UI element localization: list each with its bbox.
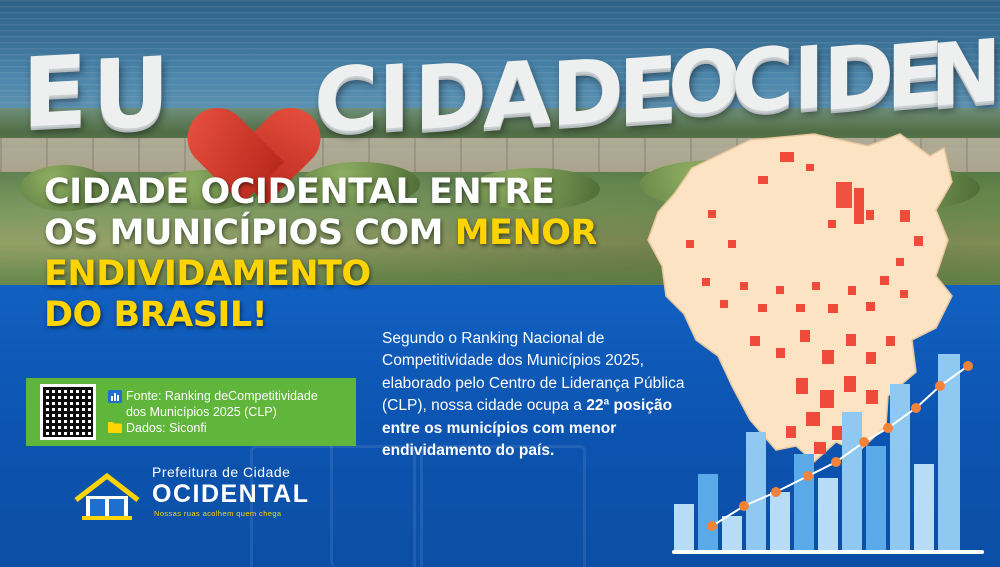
chart-trend-line [672,330,984,562]
monument-letter: I [378,53,411,143]
logo-line-1: Prefeitura de Cidade [152,464,290,480]
description-paragraph: Segundo o Ranking Nacional de Competitiv… [382,328,712,463]
bar-chart-icon [108,390,122,403]
monument-letter: C [314,54,379,147]
bar-chart [672,330,984,562]
chart-axis [672,550,984,554]
heart-icon [165,68,283,173]
city-hall-logo: Prefeitura de Cidade OCIDENTAL Nossas ru… [72,462,302,532]
headline-line-2: OS MUNICÍPIOS COM MENOR [44,213,664,254]
monument-letter: A [483,49,551,142]
source-line-1: Fonte: Ranking deCompetitividade dos Mun… [126,389,344,420]
ghost-shape [420,445,586,567]
monument-letter: E [22,42,88,141]
monument-letter: U [92,44,170,144]
folder-icon [108,421,122,433]
city-hall-logo-icon [72,466,142,524]
page-title: CIDADE OCIDENTAL ENTRE OS MUNICÍPIOS COM… [44,172,664,336]
source-line-2-text: dos Municípios 2025 (CLP) [126,405,277,419]
headline-line-1: CIDADE OCIDENTAL ENTRE [44,172,664,213]
monument-letter: D [414,50,487,143]
logo-tagline: Nossas ruas acolhem quem chega [154,509,281,518]
headline-highlight: MENOR [455,213,597,253]
qr-code-pattern [43,387,93,437]
qr-code[interactable] [40,384,96,440]
source-line-1-text: Fonte: Ranking deCompetitividade [126,389,318,403]
source-line-3: Dados: Siconfi [126,421,207,437]
logo-line-2: OCIDENTAL [152,480,309,509]
headline-line-2-text: OS MUNICÍPIOS COM [44,213,455,253]
poster-canvas: E U C I D A D E O C I D E N [0,0,1000,567]
headline-line-3: ENDIVIDAMENTO [44,254,664,295]
